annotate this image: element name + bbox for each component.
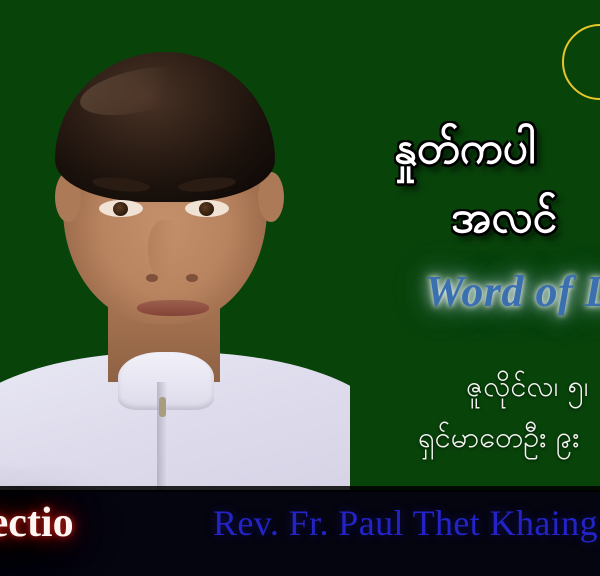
- nose: [148, 220, 186, 282]
- video-thumbnail-frame: နှုတ်ကပါ အလင် Word of L ဇူလိုင်လ၊ ၅၊ ရှင…: [0, 0, 600, 576]
- subtitle-word-of-life: Word of L: [425, 266, 600, 317]
- hair: [55, 52, 275, 202]
- reflection-label: flectio: [0, 499, 74, 547]
- speaker-portrait-image: [0, 52, 350, 492]
- eye-left: [99, 200, 143, 217]
- speaker-name: Rev. Fr. Paul Thet Khaing: [213, 502, 598, 544]
- eye-right: [185, 200, 229, 217]
- nostril-left: [146, 274, 158, 282]
- scripture-date: ဇူလိုင်လ၊ ၅၊: [466, 368, 588, 411]
- mouth: [137, 300, 209, 316]
- headline-line-2: အလင်: [451, 187, 557, 249]
- collar-button: [159, 397, 166, 417]
- headline-line-1: နှုတ်ကပါ: [394, 118, 535, 180]
- nostril-right: [186, 274, 198, 282]
- scripture-reference: ရှင်မာတေဦး ၉း: [418, 419, 580, 462]
